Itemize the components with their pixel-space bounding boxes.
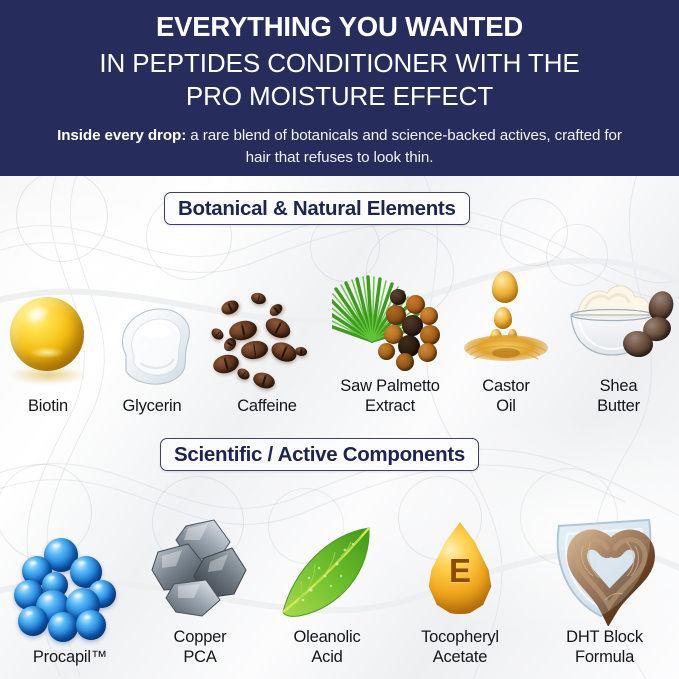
- ingredient-shea-butter[interactable]: Shea Butter: [558, 269, 679, 416]
- ingredient-tocopheryl-acetate-label: Tocopheryl Acetate: [421, 628, 499, 667]
- vitamin-e-letter: E: [417, 552, 503, 590]
- scientific-row: Procapil™: [0, 482, 679, 667]
- ingredient-biotin[interactable]: Biotin: [0, 295, 96, 416]
- vitamin-e-drop-icon: E: [417, 518, 503, 624]
- section-title-botanical-label: Botanical & Natural Elements: [178, 197, 456, 221]
- ingredient-oleanolic-acid[interactable]: Oleanolic Acid: [264, 520, 390, 667]
- ingredient-procapil[interactable]: Procapil™: [4, 536, 136, 667]
- ingredient-shea-butter-label: Shea Butter: [597, 377, 640, 416]
- ingredient-procapil-label: Procapil™: [33, 648, 107, 667]
- headline-line-3: PRO MOISTURE EFFECT: [186, 80, 493, 113]
- ingredient-glycerin[interactable]: Glycerin: [96, 297, 208, 416]
- ingredient-caffeine[interactable]: Caffeine: [208, 285, 326, 416]
- section-title-botanical: Botanical & Natural Elements: [164, 192, 470, 225]
- headline-line-2: IN PEPTIDES CONDITIONER WITH THE: [99, 47, 579, 80]
- ingredient-oleanolic-acid-label: Oleanolic Acid: [294, 628, 361, 667]
- header-banner: EVERYTHING YOU WANTED IN PEPTIDES CONDIT…: [0, 0, 679, 176]
- ingredient-biotin-label: Biotin: [28, 397, 68, 416]
- header-subtitle: Inside every drop: a rare blend of botan…: [50, 125, 630, 168]
- ingredient-tocopheryl-acetate[interactable]: E Tocopheryl Acetate: [390, 518, 530, 667]
- blue-molecule-cluster-icon: [14, 536, 126, 644]
- gold-capsule-sphere-icon: [6, 295, 90, 387]
- ingredient-saw-palmetto[interactable]: Saw Palmetto Extract: [326, 267, 454, 416]
- section-title-scientific: Scientific / Active Components: [160, 438, 479, 471]
- ingredient-copper-pca-label: Copper PCA: [174, 628, 227, 667]
- green-leaf-icon: [275, 520, 379, 620]
- subtitle-lead-in: Inside every drop:: [57, 127, 186, 144]
- shield-hair-heart-icon: [535, 514, 675, 626]
- headline-line-1: EVERYTHING YOU WANTED: [156, 10, 523, 44]
- ingredient-caffeine-label: Caffeine: [237, 397, 297, 416]
- section-title-scientific-label: Scientific / Active Components: [174, 443, 465, 467]
- clear-gel-swirl-icon: [104, 297, 200, 389]
- ingredients-canvas: Botanical & Natural Elements Biotin: [0, 176, 679, 679]
- ingredient-castor-oil-label: Castor Oil: [482, 377, 529, 416]
- ingredient-copper-pca[interactable]: Copper PCA: [136, 518, 264, 667]
- subtitle-body: a rare blend of botanicals and science-b…: [186, 127, 622, 166]
- coffee-beans-icon: [207, 285, 327, 393]
- botanical-row: Biotin: [0, 236, 679, 416]
- palm-fan-berries-icon: [332, 267, 448, 375]
- ingredient-saw-palmetto-label: Saw Palmetto Extract: [340, 377, 439, 416]
- shea-butter-bowl-nuts-icon: [561, 269, 677, 373]
- ingredient-glycerin-label: Glycerin: [123, 397, 182, 416]
- ingredient-castor-oil[interactable]: Castor Oil: [454, 267, 558, 416]
- mineral-crystal-icon: [148, 518, 252, 622]
- ingredient-dht-block-formula[interactable]: DHT Block Formula: [530, 514, 679, 667]
- amber-oil-droplets-icon: [460, 267, 552, 375]
- ingredient-dht-block-label: DHT Block Formula: [566, 628, 643, 667]
- infographic-page: EVERYTHING YOU WANTED IN PEPTIDES CONDIT…: [0, 0, 679, 679]
